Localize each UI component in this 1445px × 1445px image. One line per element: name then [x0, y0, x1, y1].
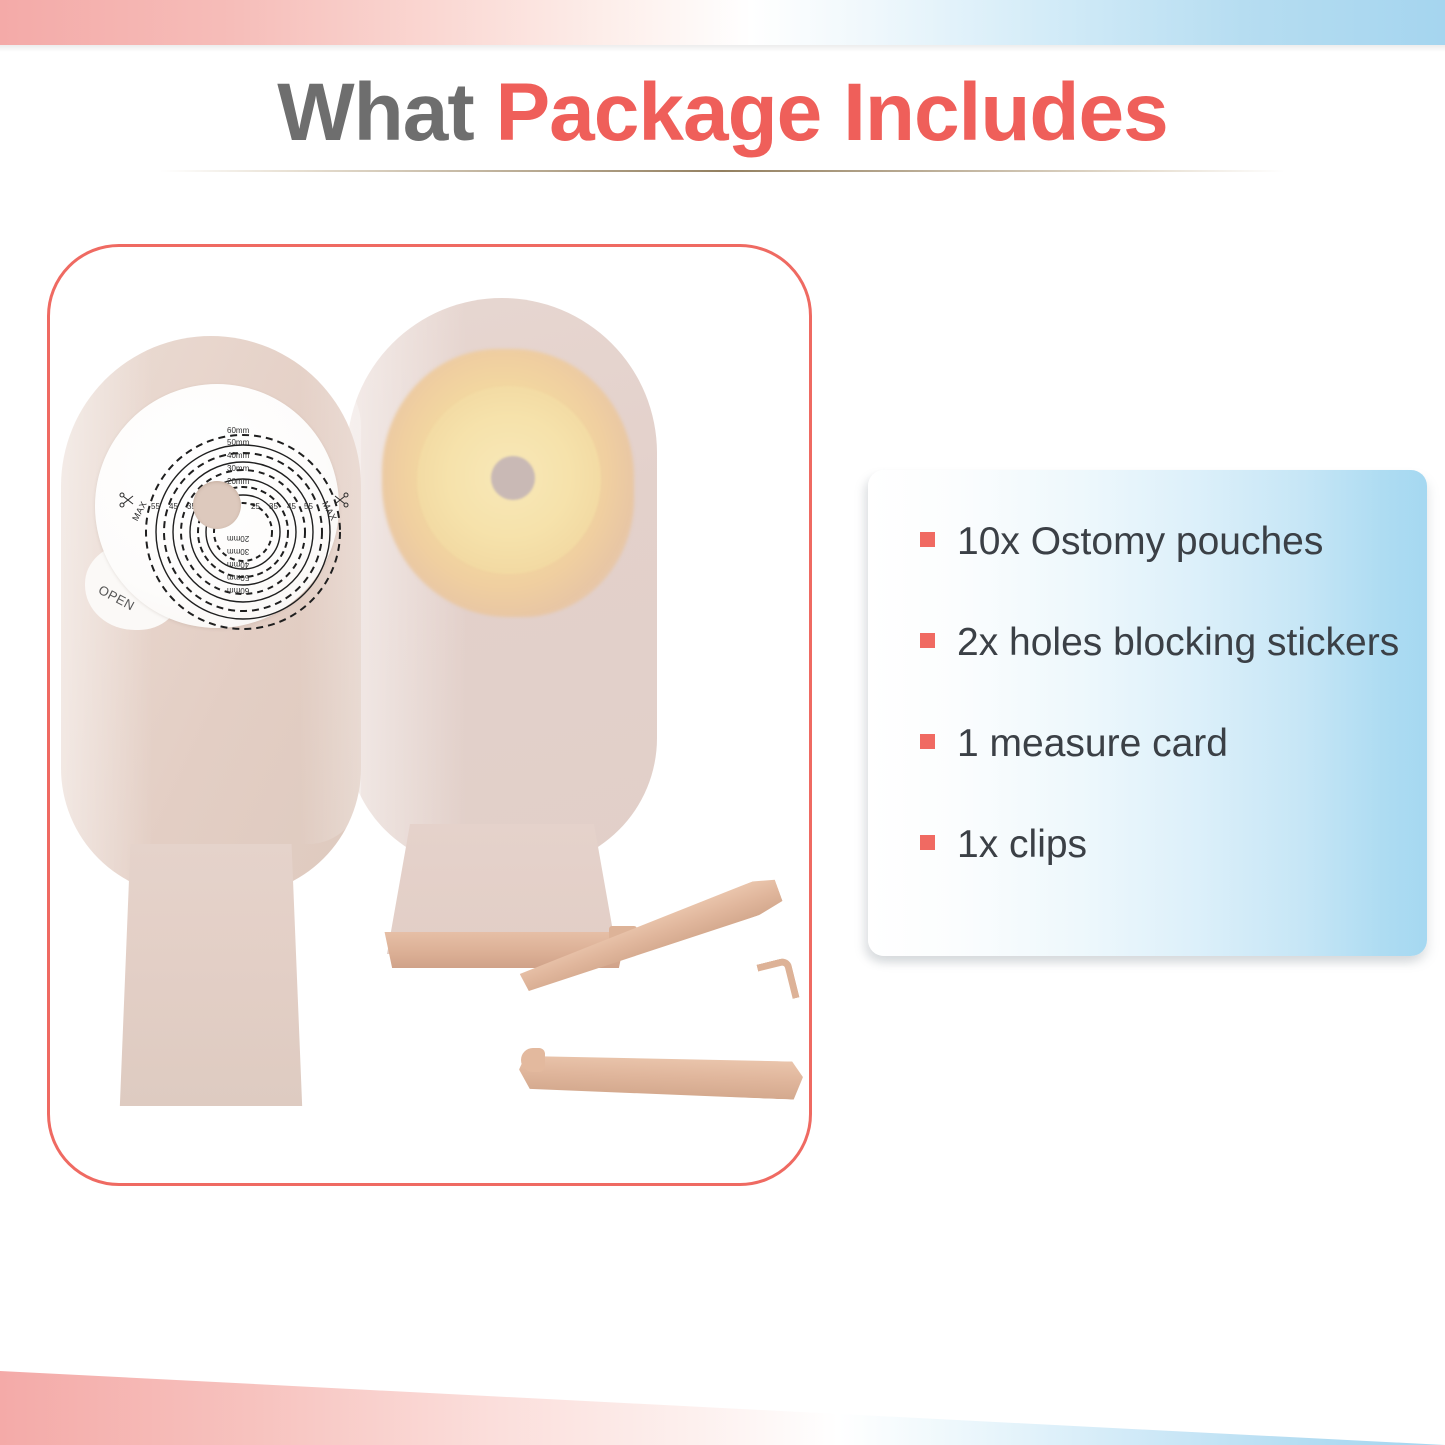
scale-right-55: 55	[304, 502, 313, 511]
ring-label-20mm-bottom: 20mm	[227, 534, 249, 543]
scale-right-45: 45	[287, 502, 296, 511]
page-title-word-package: Package Includes	[495, 67, 1167, 158]
list-item: 2x holes blocking stickers	[920, 623, 1427, 662]
scale-right-25: 25	[251, 502, 260, 511]
package-contents-panel: 10x Ostomy pouches 2x holes blocking sti…	[868, 470, 1427, 956]
ring-label-40mm-bottom: 40mm	[227, 560, 249, 569]
top-gradient-band	[0, 0, 1445, 45]
ostomy-pouch-front-drain-spout	[105, 844, 317, 1106]
closure-clip-open	[507, 956, 807, 1116]
scale-left-45: 45	[169, 502, 178, 511]
ring-label-30mm-bottom: 30mm	[227, 547, 249, 556]
ring-label-30mm-top: 30mm	[227, 464, 249, 473]
title-divider-rule	[160, 170, 1285, 172]
scale-left-55: 55	[151, 502, 160, 511]
ring-label-40mm-top: 40mm	[227, 451, 249, 460]
list-item-label: 1x clips	[957, 825, 1087, 864]
list-item: 10x Ostomy pouches	[920, 522, 1427, 561]
bullet-square-icon	[920, 734, 935, 749]
ring-label-50mm-bottom: 50mm	[227, 573, 249, 582]
ring-label-60mm-bottom: 60mm	[227, 586, 249, 595]
bottom-gradient-band	[0, 1345, 1445, 1445]
list-item: 1x clips	[920, 825, 1427, 864]
closure-clip-hook	[756, 957, 799, 1006]
scale-right-35: 35	[269, 502, 278, 511]
ring-label-50mm-top: 50mm	[227, 438, 249, 447]
product-photo: 60mm 50mm 40mm 30mm 20mm 20mm 30mm 40mm …	[47, 244, 812, 1186]
closure-clip-hinge	[521, 1048, 545, 1072]
list-item-label: 2x holes blocking stickers	[957, 623, 1399, 662]
bullet-square-icon	[920, 532, 935, 547]
closure-clip-lower-arm	[518, 1052, 803, 1100]
measure-card-center-hole	[193, 481, 241, 529]
bullet-square-icon	[920, 835, 935, 850]
list-item: 1 measure card	[920, 724, 1427, 763]
scissors-icon-left	[119, 492, 135, 508]
list-item-label: 1 measure card	[957, 724, 1228, 763]
scissors-icon-right	[333, 492, 349, 508]
ring-label-60mm-top: 60mm	[227, 426, 249, 435]
page-title: What Package Includes	[0, 72, 1445, 154]
hydrocolloid-barrier-hole	[491, 456, 535, 500]
list-item-label: 10x Ostomy pouches	[957, 522, 1323, 561]
page-title-word-what: What	[277, 67, 473, 158]
package-contents-list: 10x Ostomy pouches 2x holes blocking sti…	[920, 522, 1427, 864]
bullet-square-icon	[920, 633, 935, 648]
